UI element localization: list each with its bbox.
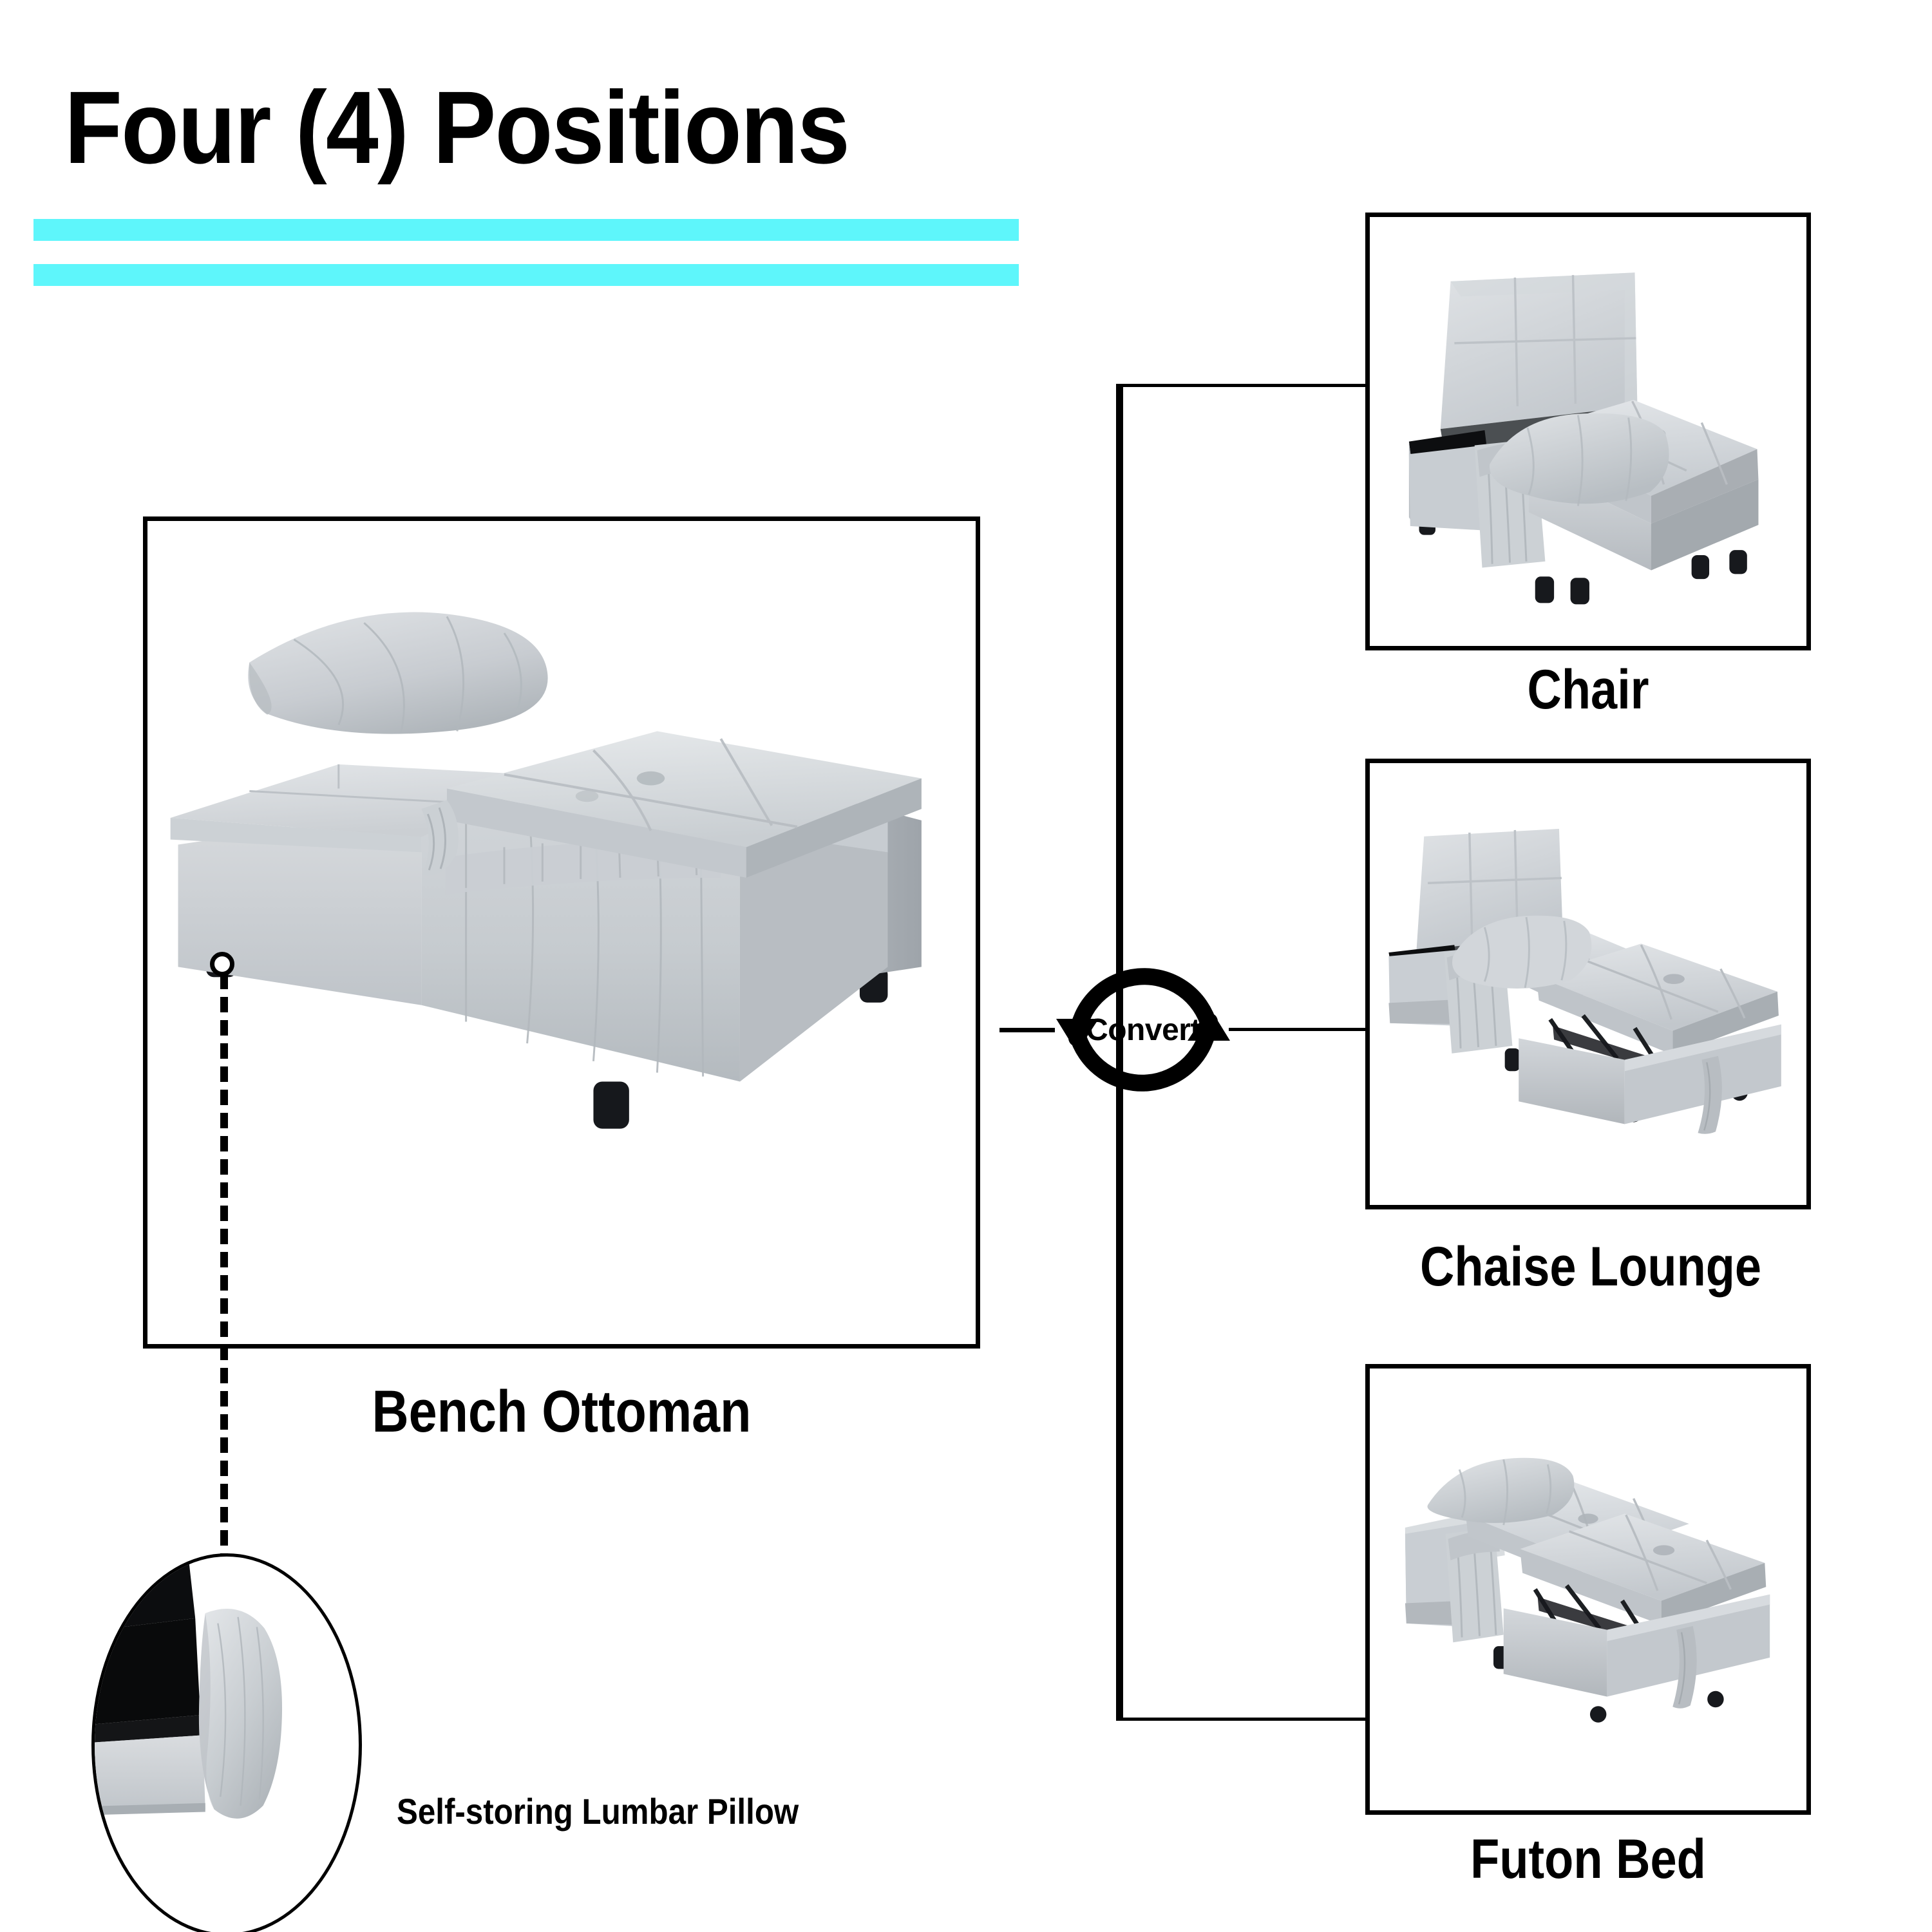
infographic-page: Four (4) Positions Convert <box>0 0 1932 1932</box>
chaise-lounge-illustration <box>1370 763 1806 1205</box>
panel-bench-ottoman <box>143 516 980 1349</box>
chair-illustration <box>1370 217 1806 646</box>
storage-pillow-illustration <box>95 1557 359 1932</box>
panel-chair <box>1365 213 1811 650</box>
page-title: Four (4) Positions <box>64 76 849 179</box>
callout-marker-dot <box>210 952 234 976</box>
connector-branch-chaise <box>1229 1028 1368 1031</box>
caption-bench-ottoman: Bench Ottoman <box>202 1378 922 1446</box>
panel-chaise-lounge <box>1365 759 1811 1209</box>
futon-bed-illustration <box>1370 1368 1806 1810</box>
inset-self-storing-pillow <box>91 1553 362 1932</box>
connector-branch-futon <box>1116 1718 1368 1721</box>
caption-self-storing-lumbar-pillow: Self-storing Lumbar Pillow <box>397 1790 799 1832</box>
callout-dashed-line <box>220 974 228 1592</box>
convert-label: Convert <box>1043 930 1243 1130</box>
convert-icon: Convert <box>1043 930 1243 1130</box>
bench-ottoman-illustration <box>147 521 976 1344</box>
caption-chair: Chair <box>1396 658 1779 722</box>
caption-futon-bed: Futon Bed <box>1396 1828 1779 1891</box>
accent-rule-bottom <box>33 264 1019 286</box>
connector-branch-chair <box>1116 384 1368 387</box>
panel-futon-bed <box>1365 1364 1811 1815</box>
caption-chaise-lounge: Chaise Lounge <box>1369 1235 1812 1299</box>
accent-rule-top <box>33 219 1019 241</box>
